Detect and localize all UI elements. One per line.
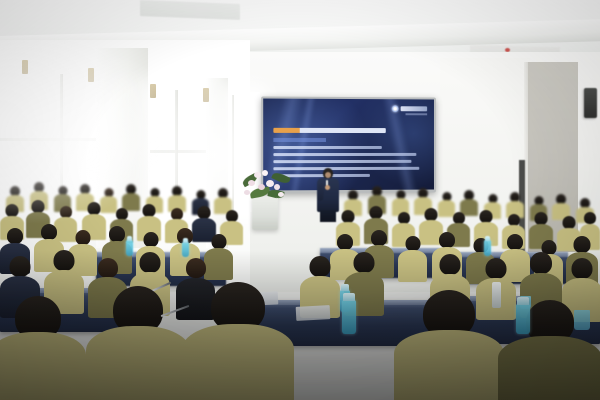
water-bottle xyxy=(516,304,530,334)
bottle-cap xyxy=(341,284,349,291)
attendee-foreground xyxy=(394,290,504,400)
attendee-foreground xyxy=(0,296,86,400)
company-wordmark xyxy=(401,106,428,111)
window-mullion xyxy=(150,150,206,153)
bottle-cap xyxy=(183,238,188,243)
bottle-cap xyxy=(127,236,132,241)
window-mullion xyxy=(232,95,234,210)
slide-body-line xyxy=(273,153,416,156)
company-logo-icon xyxy=(392,105,399,112)
bottle-cap xyxy=(485,236,490,241)
slide-logo xyxy=(392,105,427,112)
water-bottle xyxy=(182,242,189,257)
floral-arrangement xyxy=(238,168,294,202)
slide-body-line xyxy=(273,167,419,170)
water-bottle xyxy=(342,300,356,334)
attendee-foreground xyxy=(86,286,190,400)
slide-heading xyxy=(273,128,385,133)
presenter-hand xyxy=(325,185,330,190)
notepad xyxy=(296,305,331,321)
drinking-cup xyxy=(574,310,590,330)
company-wordmark-sub xyxy=(406,113,428,115)
curtain-tab xyxy=(22,60,28,74)
bottle-cap xyxy=(343,293,355,301)
wall-speaker-icon xyxy=(584,88,597,118)
attendee-foreground xyxy=(182,282,294,400)
curtain-tab xyxy=(203,88,209,102)
slide-body-line xyxy=(273,146,381,149)
curtain-tab xyxy=(150,84,156,98)
window-mullion xyxy=(0,138,96,141)
slide-body-line xyxy=(273,160,411,163)
curtain-tab xyxy=(88,68,94,82)
photo-canvas xyxy=(0,0,600,400)
attendee xyxy=(398,236,427,282)
slide-highlight-bar xyxy=(273,138,326,142)
water-bottle xyxy=(484,240,491,256)
bottle-cap xyxy=(517,297,529,305)
presenter-legs xyxy=(320,210,336,222)
